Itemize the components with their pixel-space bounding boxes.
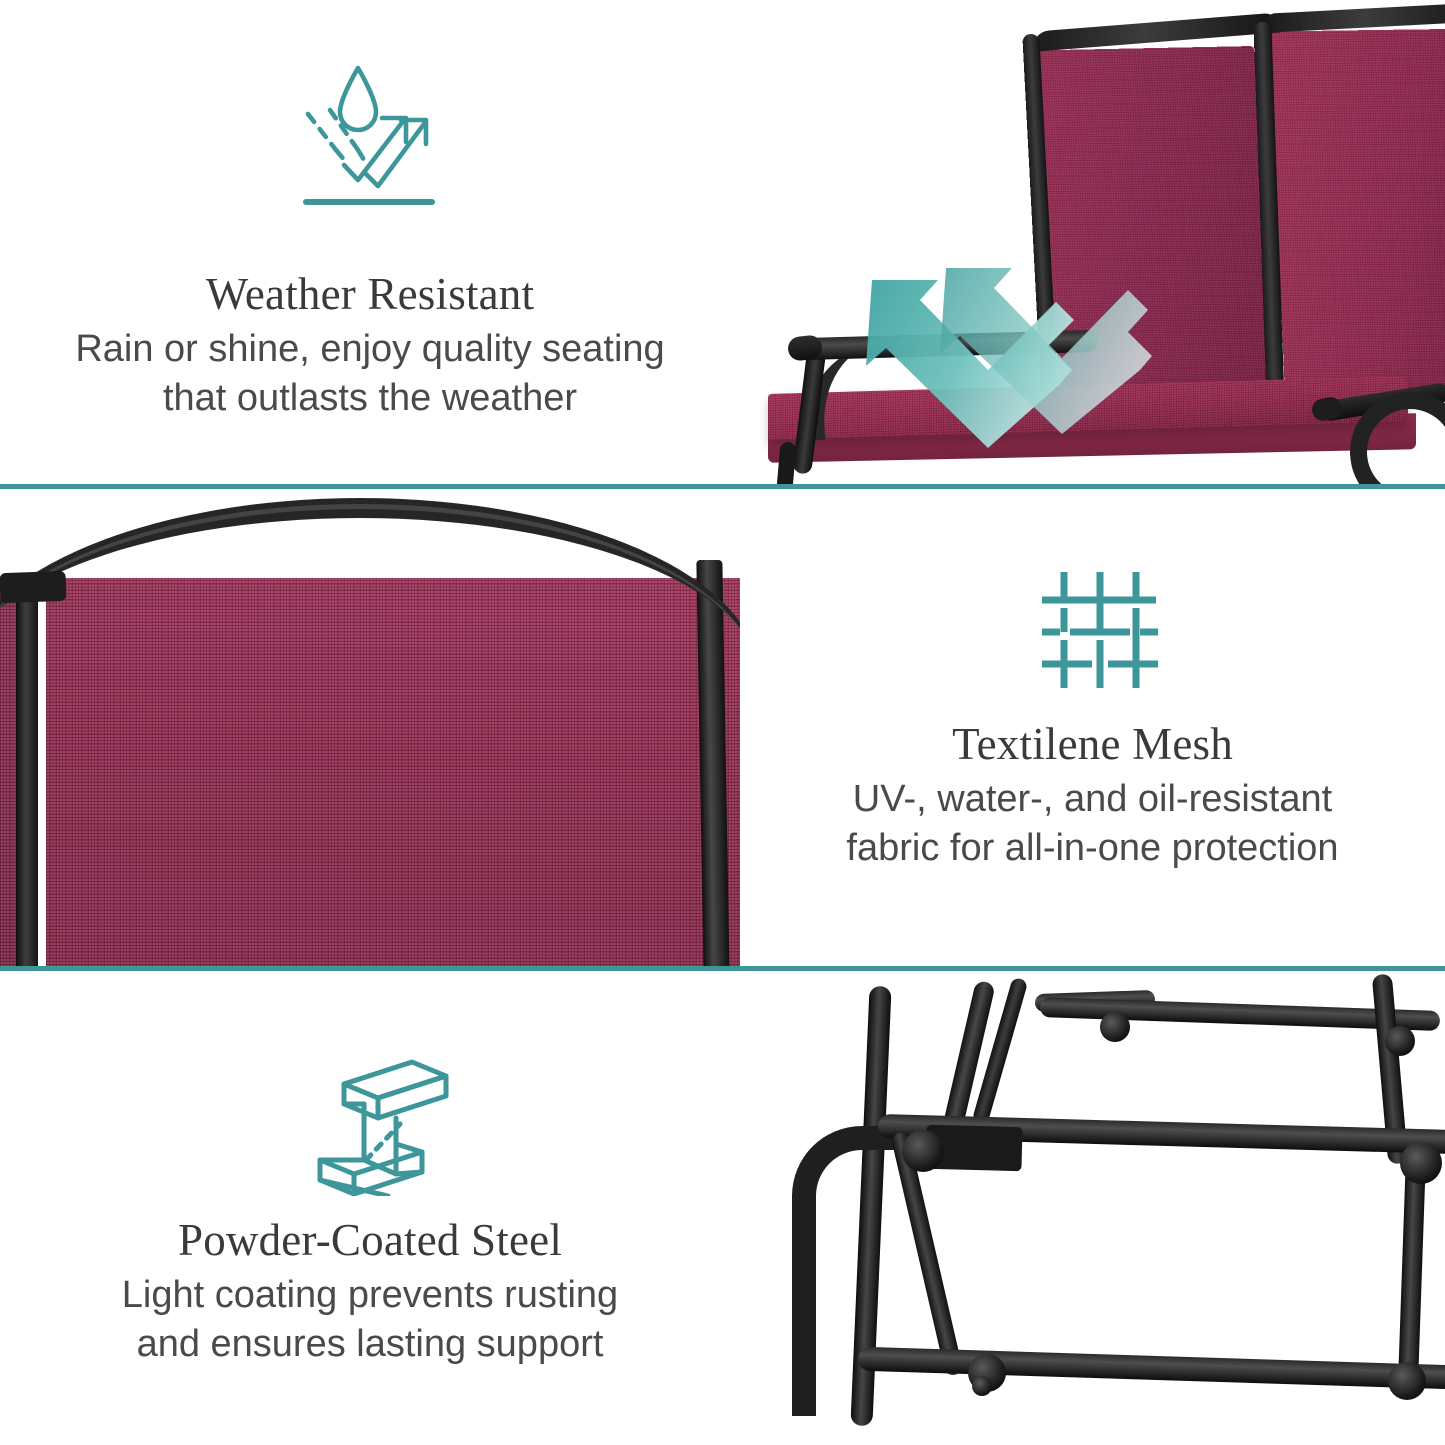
panel-glider-loveseat-photo bbox=[740, 0, 1445, 484]
feature-description: Rain or shine, enjoy quality seating tha… bbox=[40, 325, 700, 424]
water-repel-arrows-overlay bbox=[860, 262, 1190, 452]
pivot-joint bbox=[1100, 1012, 1130, 1042]
frame-corner-joint bbox=[0, 571, 67, 603]
product-feature-infographic: Weather Resistant Rain or shine, enjoy q… bbox=[0, 0, 1445, 1445]
pivot-joint bbox=[972, 1376, 992, 1396]
feature-title: Powder-Coated Steel bbox=[40, 1214, 700, 1267]
pivot-joint bbox=[1385, 1026, 1415, 1056]
feature-title: Weather Resistant bbox=[40, 268, 700, 321]
panel-powder-coated-steel-text: Powder-Coated Steel Light coating preven… bbox=[0, 974, 740, 1445]
product-photo-weather-resistant bbox=[740, 0, 1445, 484]
backrest-cushion-right bbox=[1269, 29, 1445, 392]
panel-textilene-mesh-text: Textilene Mesh UV-, water-, and oil-resi… bbox=[740, 490, 1445, 968]
pivot-joint bbox=[1400, 1142, 1442, 1184]
section-divider-top bbox=[0, 484, 1445, 489]
product-photo-steel-frame bbox=[740, 974, 1445, 1445]
woven-mesh-icon bbox=[1040, 570, 1160, 690]
pivot-joint bbox=[1388, 1362, 1426, 1400]
feature-description: Light coating prevents rusting and ensur… bbox=[40, 1271, 700, 1370]
product-photo-textilene-mesh bbox=[0, 490, 740, 968]
pivot-joint bbox=[902, 1130, 944, 1172]
feature-text-textilene-mesh: Textilene Mesh UV-, water-, and oil-resi… bbox=[740, 718, 1445, 874]
panel-weather-resistant-text: Weather Resistant Rain or shine, enjoy q… bbox=[0, 0, 740, 484]
section-divider-bottom bbox=[0, 966, 1445, 971]
feature-text-powder-coated-steel: Powder-Coated Steel Light coating preven… bbox=[0, 1214, 740, 1370]
panel-textilene-fabric-photo bbox=[0, 490, 740, 968]
feature-title: Textilene Mesh bbox=[780, 718, 1405, 771]
feature-description: UV-, water-, and oil-resistant fabric fo… bbox=[780, 775, 1405, 874]
water-droplet-repel-icon bbox=[300, 62, 440, 227]
frame-top-rail-right bbox=[1266, 2, 1445, 32]
feature-text-weather-resistant: Weather Resistant Rain or shine, enjoy q… bbox=[0, 268, 740, 424]
frame-arch-highlight bbox=[0, 504, 740, 684]
panel-steel-frame-photo bbox=[740, 974, 1445, 1445]
i-beam-steel-icon bbox=[300, 1056, 450, 1196]
